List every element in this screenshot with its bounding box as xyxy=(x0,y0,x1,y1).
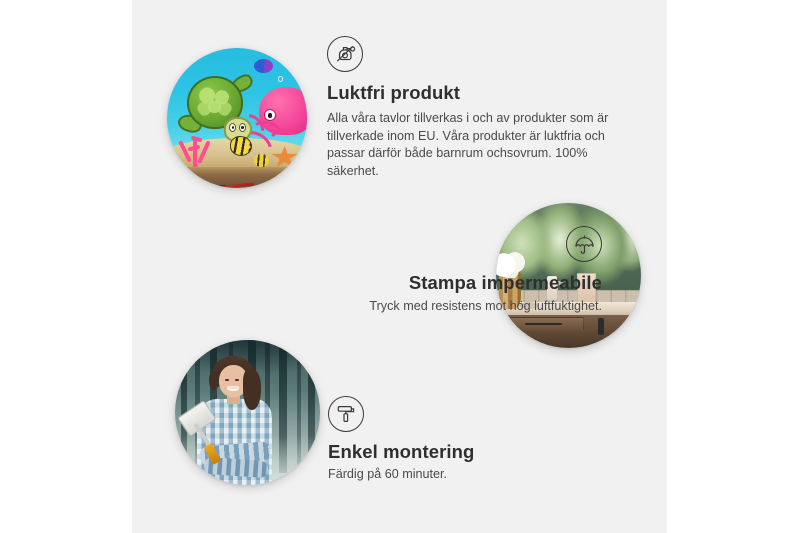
yellow-fish-icon xyxy=(230,136,252,156)
feature-description: Färdig på 60 minuter. xyxy=(328,466,588,484)
page-root: Luktfri produkt Alla våra tavlor tillver… xyxy=(0,0,800,533)
umbrella-icon xyxy=(566,226,602,262)
shipwreck-band xyxy=(167,167,307,188)
feature-title: Stampa impermeabile xyxy=(212,272,602,294)
feature-description: Tryck med resistens mot hög luftfuktighe… xyxy=(212,298,602,316)
woman-hair-side xyxy=(243,369,260,410)
photo-woman-with-paint-roller xyxy=(175,340,320,485)
feature-odour-free: Luktfri produkt Alla våra tavlor tillver… xyxy=(327,36,632,180)
no-perfume-icon xyxy=(327,36,363,72)
feature-description: Alla våra tavlor tillverkas i och av pro… xyxy=(327,110,632,180)
photo-woman-content xyxy=(175,340,320,485)
feature-title: Luktfri produkt xyxy=(327,82,632,104)
feature-title: Enkel montering xyxy=(328,441,588,463)
wooden-vanity xyxy=(505,315,641,348)
photo-underwater-kids-scene xyxy=(167,48,307,188)
small-fish-icon xyxy=(254,154,269,167)
paint-roller-icon xyxy=(328,396,364,432)
photo-underwater-content xyxy=(167,48,307,188)
bubble-icon xyxy=(278,76,284,82)
feature-waterproof-print: Stampa impermeabile Tryck med resistens … xyxy=(212,226,602,316)
content-panel: Luktfri produkt Alla våra tavlor tillver… xyxy=(132,0,667,533)
feature-easy-assembly: Enkel montering Färdig på 60 minuter. xyxy=(328,396,588,484)
